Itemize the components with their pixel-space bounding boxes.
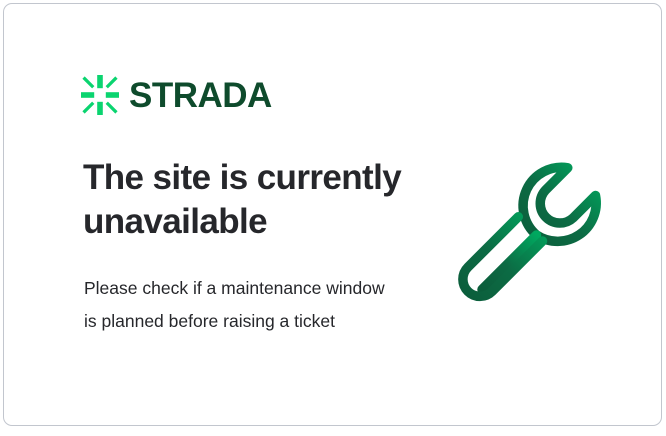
brand-wordmark: STRADA bbox=[129, 78, 272, 113]
error-page: STRADA The site is currently unavailable… bbox=[0, 0, 666, 436]
strada-starburst-icon bbox=[81, 75, 119, 115]
status-card: STRADA The site is currently unavailable… bbox=[3, 3, 662, 426]
brand-lockup: STRADA bbox=[81, 75, 272, 115]
page-title: The site is currently unavailable bbox=[83, 156, 423, 244]
wrench-icon bbox=[456, 159, 614, 314]
page-description: Please check if a maintenance window is … bbox=[84, 272, 389, 338]
